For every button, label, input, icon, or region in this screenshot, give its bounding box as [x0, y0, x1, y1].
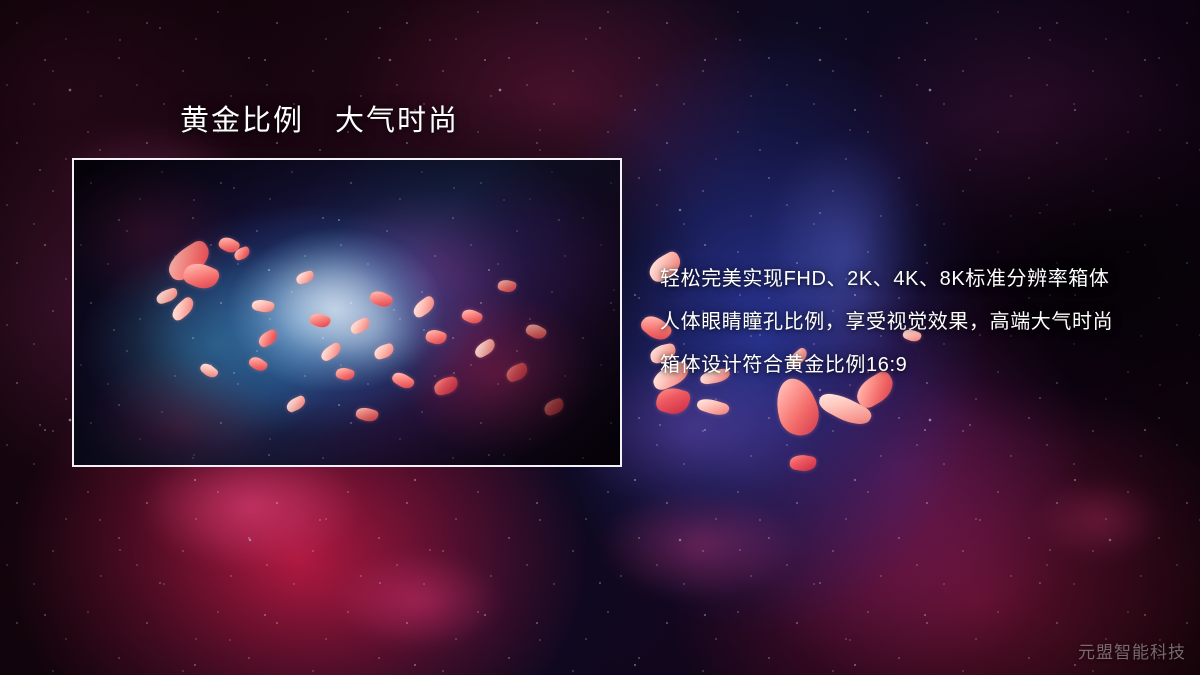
- watermark: 元盟智能科技: [1078, 638, 1186, 663]
- body-line: 人体眼睛瞳孔比例，享受视觉效果，高端大气时尚: [660, 301, 1180, 344]
- body-text-block: 轻松完美实现FHD、2K、4K、8K标准分辨率箱体 人体眼睛瞳孔比例，享受视觉效…: [660, 258, 1180, 387]
- photo-vignette: [74, 160, 620, 465]
- body-line: 箱体设计符合黄金比例16:9: [660, 344, 1180, 387]
- presentation-slide: 黄金比例 大气时尚 轻松完美实现FHD、2K、4K、8K标准分辨率箱体 人体眼睛…: [0, 0, 1200, 675]
- golden-ratio-photo-frame: [72, 158, 622, 467]
- body-line: 轻松完美实现FHD、2K、4K、8K标准分辨率箱体: [660, 258, 1180, 301]
- page-title: 黄金比例 大气时尚: [180, 103, 459, 139]
